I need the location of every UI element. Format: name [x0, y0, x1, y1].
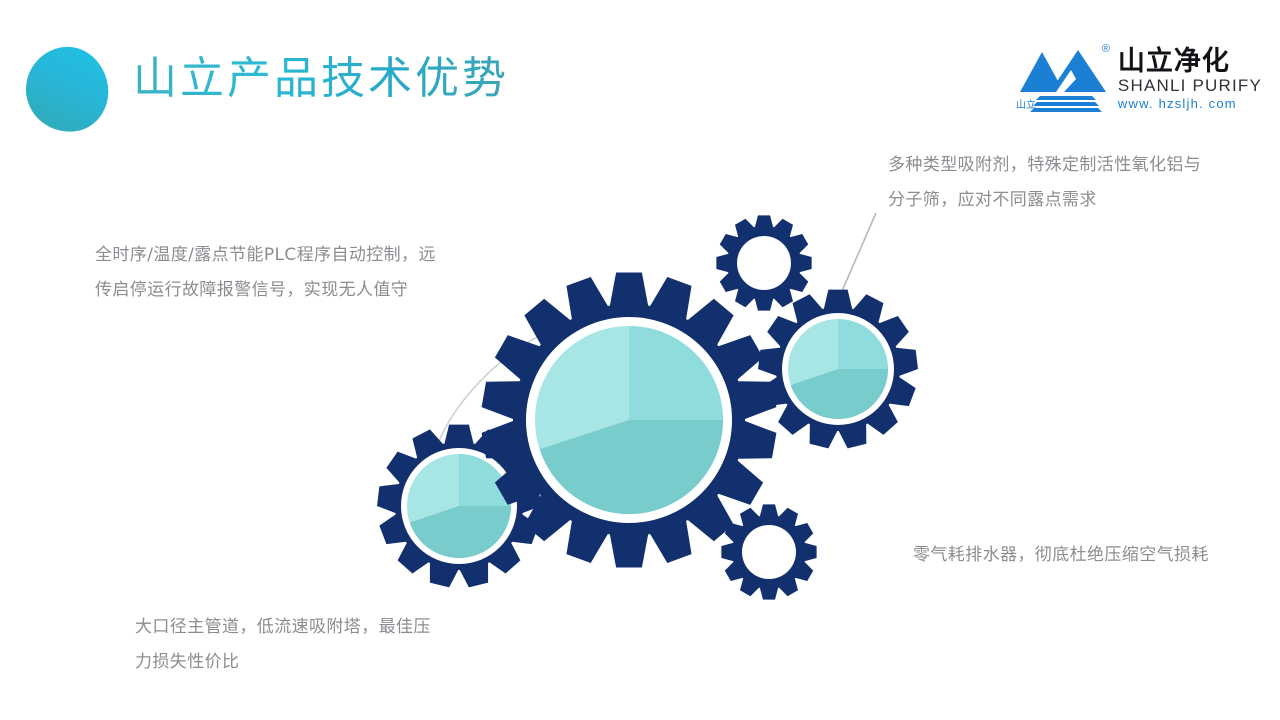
logo-website: www. hzsljh. com — [1118, 96, 1262, 112]
callout-text-zero-air-drain: 零气耗排水器，彻底杜绝压缩空气损耗 — [913, 538, 1233, 573]
connector-line-left — [437, 333, 545, 446]
shanli-mountain-mark-icon: ® 山立 — [1016, 42, 1112, 112]
connector-line-right — [832, 213, 876, 314]
registered-trademark-icon: ® — [1102, 44, 1110, 55]
logo-company-cn: 山立净化 — [1118, 48, 1262, 76]
gear-lower-left — [377, 425, 541, 588]
gear-right — [758, 290, 918, 449]
callout-text-large-pipeline: 大口径主管道，低流速吸附塔，最佳压力损失性价比 — [135, 610, 435, 680]
gear-main — [482, 273, 777, 568]
logo-wordmark: 山立净化 SHANLI PURIFY www. hzsljh. com — [1118, 42, 1262, 112]
brand-logo: ® 山立 山立净化 SHANLI PURIFY www. hzsljh. com — [1016, 42, 1262, 114]
page-title: 山立产品技术优势 — [133, 53, 509, 106]
gear-top-small — [716, 215, 811, 310]
slide-canvas: 山立产品技术优势 ® 山立 山立净化 SHANLI PURIFY www. hz… — [0, 0, 1280, 720]
callout-text-plc-control: 全时序/温度/露点节能PLC程序自动控制，远传启停运行故障报警信号，实现无人值守 — [95, 238, 445, 308]
gear-bottom-small — [721, 504, 816, 599]
title-decor-blob — [20, 42, 113, 138]
callout-text-adsorbent: 多种类型吸附剂，特殊定制活性氧化铝与分子筛，应对不同露点需求 — [888, 148, 1218, 218]
logo-mark-caption: 山立 — [1016, 96, 1036, 111]
logo-company-en: SHANLI PURIFY — [1118, 76, 1262, 96]
